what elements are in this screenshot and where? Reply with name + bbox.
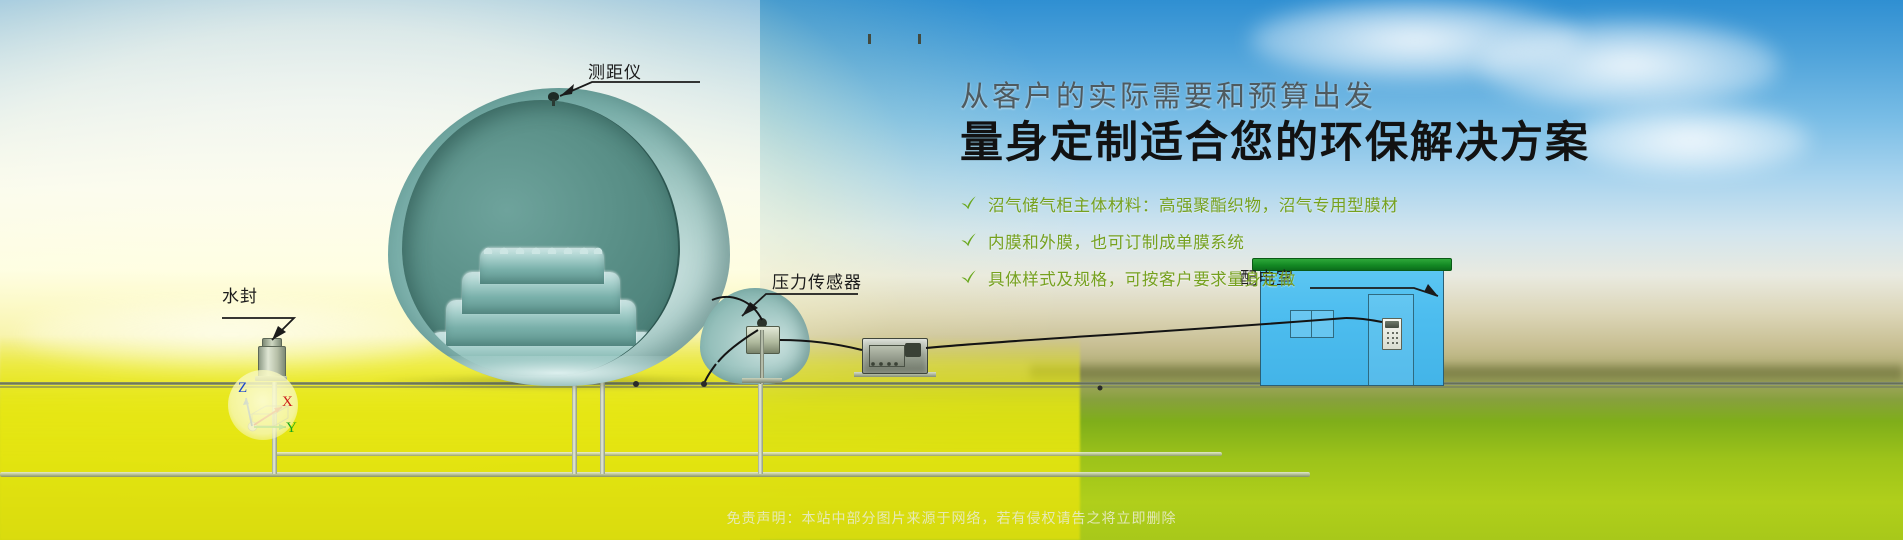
blower-leg <box>868 34 871 44</box>
blower-ports <box>869 361 899 368</box>
label-water-seal: 水封 <box>222 282 258 307</box>
check-icon <box>960 232 977 249</box>
check-icon <box>960 195 977 212</box>
list-item: 具体样式及规格，可按客户要求量身定做 <box>960 266 1660 290</box>
dome-inner-cavity <box>402 100 680 376</box>
rangefinder-stem <box>552 99 555 106</box>
label-pressure-sensor: 压力传感器 <box>772 268 862 293</box>
banner-subtitle: 从客户的实际需要和预算出发 <box>960 78 1660 114</box>
panel-keypad <box>1385 330 1399 347</box>
membrane-crest <box>480 242 604 254</box>
pressure-sensor-base <box>742 378 782 383</box>
axis-gizmo-backdrop <box>228 370 298 440</box>
gas-pipe-upper <box>272 452 1222 456</box>
dome-outer-membrane <box>388 88 730 386</box>
control-panel-icon <box>1382 318 1402 350</box>
blower-unit <box>862 338 928 374</box>
list-item-label: 具体样式及规格，可按客户要求量身定做 <box>988 266 1296 290</box>
gas-holder-dome <box>388 88 730 386</box>
list-item-label: 沼气储气柜主体材料：高强聚酯织物，沼气专用型膜材 <box>988 192 1398 216</box>
banner-title: 量身定制适合您的环保解决方案 <box>960 118 1660 170</box>
building-window <box>1290 310 1334 338</box>
panel-screen <box>1385 321 1399 328</box>
label-rangefinder: 测距仪 <box>588 58 642 83</box>
list-item: 沼气储气柜主体材料：高强聚酯织物，沼气专用型膜材 <box>960 192 1660 216</box>
hero-banner: Z Y X 测距仪 水封 压力传感器 配电室 从客户的实际需要和预算出发 量身定… <box>0 0 1903 540</box>
blower-leg <box>918 34 921 44</box>
pressure-sensor-post <box>760 330 764 384</box>
list-item-label: 内膜和外膜，也可订制成单膜系统 <box>988 229 1245 253</box>
pipe-riser <box>758 382 763 474</box>
blower-motor <box>905 343 921 357</box>
cloud-icon <box>20 300 440 370</box>
horizon-treeline <box>1030 362 1903 382</box>
disclaimer-text: 免责声明：本站中部分图片来源于网络，若有侵权请告之将立即删除 <box>0 508 1903 528</box>
gas-pipe-main <box>0 472 1310 477</box>
list-item: 内膜和外膜，也可订制成单膜系统 <box>960 229 1660 253</box>
dome-base-highlight <box>408 356 708 386</box>
feature-bullet-list: 沼气储气柜主体材料：高强聚酯织物，沼气专用型膜材 内膜和外膜，也可订制成单膜系统… <box>960 192 1660 290</box>
check-icon <box>960 269 977 286</box>
marketing-copy-block: 从客户的实际需要和预算出发 量身定制适合您的环保解决方案 沼气储气柜主体材料：高… <box>960 78 1660 303</box>
